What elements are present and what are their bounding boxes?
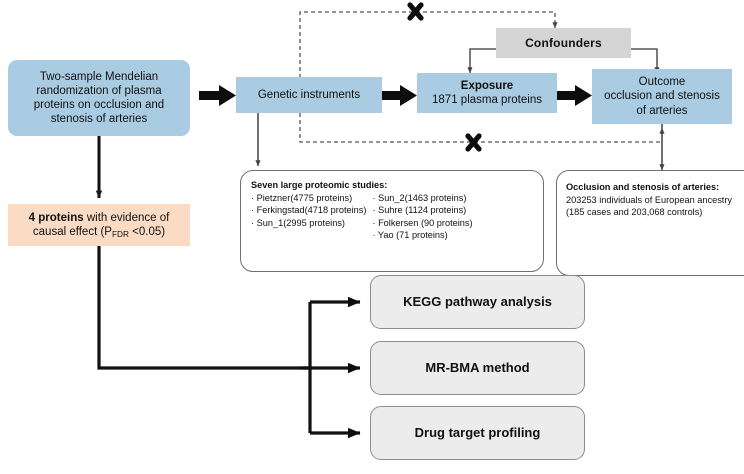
studies-column-left: Pietzner(4775 proteins) Ferkingstad(4718…	[251, 192, 366, 241]
mrbma-method-box[interactable]: MR-BMA method	[370, 341, 585, 395]
outcome-detail-body: 203253 individuals of European ancestry …	[566, 195, 732, 217]
study-item: Suhre (1124 proteins)	[372, 204, 472, 216]
exposure-box: Exposure 1871 plasma proteins	[417, 73, 557, 113]
kegg-analysis-box[interactable]: KEGG pathway analysis	[370, 275, 585, 329]
result-box: 4 proteins with evidence of causal effec…	[8, 204, 190, 246]
studies-column-right: Sun_2(1463 proteins) Suhre (1124 protein…	[372, 192, 472, 241]
study-item: Sun_1(2995 proteins)	[251, 217, 366, 229]
proteomic-studies-box: Seven large proteomic studies: Pietzner(…	[240, 170, 544, 272]
outcome-line3: of arteries	[636, 104, 687, 118]
outcome-line2: occlusion and stenosis	[604, 89, 720, 103]
drug-target-profiling-box[interactable]: Drug target profiling	[370, 406, 585, 460]
outcome-line1: Outcome	[639, 75, 686, 89]
study-item: Folkersen (90 proteins)	[372, 217, 472, 229]
study-item: Sun_2(1463 proteins)	[372, 192, 472, 204]
line-confounders-to-exposure	[470, 49, 496, 73]
outcome-detail-box: Occlusion and stenosis of arteries: 2032…	[556, 170, 744, 276]
outcome-box: Outcome occlusion and stenosis of arteri…	[592, 69, 732, 124]
result-subscript: FDR	[112, 230, 129, 239]
confounders-box: Confounders	[496, 28, 631, 58]
result-threshold: <0.05)	[129, 226, 165, 238]
study-item: Yao (71 proteins)	[372, 229, 472, 241]
exposure-title: Exposure	[461, 79, 513, 93]
result-count: 4 proteins	[29, 212, 84, 224]
block-arrow-instruments-to-exposure	[382, 85, 417, 106]
studies-heading: Seven large proteomic studies:	[251, 179, 533, 191]
start-box: Two-sample Mendelian randomization of pl…	[8, 60, 190, 136]
flowchart-diagram: Two-sample Mendelian randomization of pl…	[0, 0, 744, 474]
genetic-instruments-box: Genetic instruments	[236, 77, 382, 113]
block-arrow-start-to-instruments	[199, 85, 236, 106]
study-item: Ferkingstad(4718 proteins)	[251, 204, 366, 216]
study-item: Pietzner(4775 proteins)	[251, 192, 366, 204]
exposure-subtitle: 1871 plasma proteins	[432, 93, 542, 107]
outcome-detail-heading: Occlusion and stenosis of arteries:	[566, 181, 744, 193]
block-arrow-exposure-to-outcome	[557, 85, 592, 106]
